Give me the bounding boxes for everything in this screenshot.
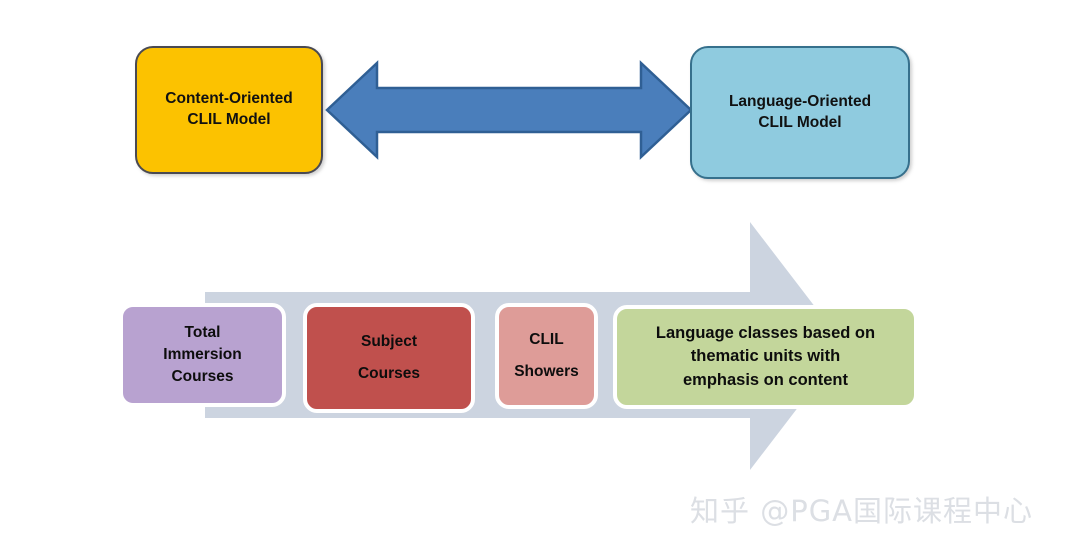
language-classes-line2: thematic units with	[691, 347, 840, 365]
content-model-label: Content-Oriented CLIL Model	[165, 89, 292, 131]
course-box-language-classes: Language classes based on thematic units…	[613, 305, 918, 409]
total-immersion-line1: Total	[185, 324, 221, 341]
content-model-line2: CLIL Model	[187, 111, 270, 128]
clil-showers-line1: CLIL	[529, 331, 563, 348]
language-model-label: Language-Oriented CLIL Model	[729, 92, 871, 134]
language-oriented-clil-model-box: Language-Oriented CLIL Model	[690, 46, 910, 179]
course-box-total-immersion: Total Immersion Courses	[119, 303, 286, 407]
diagram-canvas: Content-Oriented CLIL Model Language-Ori…	[0, 0, 1080, 547]
course-box-clil-showers: CLIL Showers	[495, 303, 598, 409]
watermark: 知乎 @PGA国际课程中心	[690, 488, 1033, 530]
clil-showers-line2: Showers	[514, 363, 579, 380]
course-box-subject-courses-label: Subject Courses	[358, 326, 420, 390]
course-box-clil-showers-label: CLIL Showers	[514, 324, 579, 388]
subject-courses-line1: Subject	[361, 333, 417, 350]
double-headed-arrow-icon	[325, 55, 693, 165]
content-oriented-clil-model-box: Content-Oriented CLIL Model	[135, 46, 323, 174]
course-box-language-classes-label: Language classes based on thematic units…	[656, 322, 875, 391]
course-box-subject-courses: Subject Courses	[303, 303, 475, 413]
language-classes-line1: Language classes based on	[656, 324, 875, 342]
total-immersion-line3: Courses	[171, 368, 233, 385]
language-model-line1: Language-Oriented	[729, 93, 871, 110]
total-immersion-line2: Immersion	[163, 346, 241, 363]
course-box-total-immersion-label: Total Immersion Courses	[163, 322, 241, 388]
content-model-line1: Content-Oriented	[165, 90, 292, 107]
language-model-line2: CLIL Model	[758, 114, 841, 131]
language-classes-line3: emphasis on content	[683, 371, 848, 389]
subject-courses-line2: Courses	[358, 365, 420, 382]
